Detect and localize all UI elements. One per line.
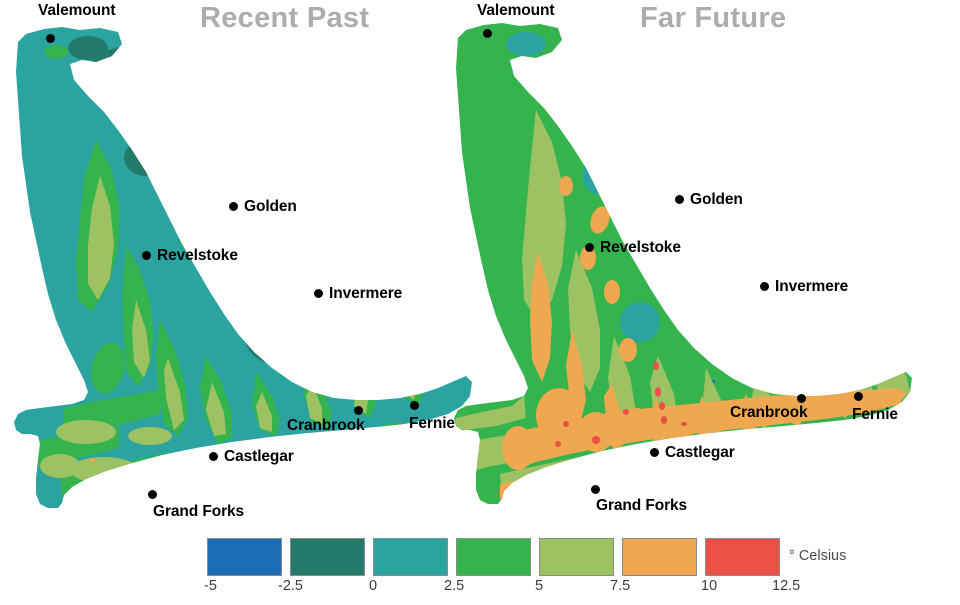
legend-tick-7: 12.5 [772,578,800,594]
legend-swatch-4[interactable] [539,538,614,576]
legend-units-label: ° Celsius [789,548,846,564]
city-dot-castlegar-future [650,448,659,457]
city-dot-cranbrook-future [797,394,806,403]
city-dot-valemount-future [483,29,492,38]
city-dot-fernie-future [854,392,863,401]
legend-swatch-0[interactable] [207,538,282,576]
legend-tick-2: 0 [369,578,377,594]
climate-map-figure: Recent Past [0,0,960,605]
legend-swatch-3[interactable] [456,538,531,576]
legend-tick-0: -5 [204,578,217,594]
city-label-castlegar-future: Castlegar [665,444,735,462]
legend-swatch-2[interactable] [373,538,448,576]
city-label-grand-forks-future: Grand Forks [596,497,687,515]
city-dot-invermere-future [760,282,769,291]
city-label-golden-future: Golden [690,191,743,209]
legend-swatch-1[interactable] [290,538,365,576]
city-label-valemount-future: Valemount [477,2,554,20]
city-label-cranbrook-future: Cranbrook [730,404,807,422]
legend-tick-1: -2.5 [278,578,303,594]
city-dot-grand-forks-future [591,485,600,494]
city-label-invermere-future: Invermere [775,278,848,296]
city-dot-golden-future [675,195,684,204]
legend-swatch-5[interactable] [622,538,697,576]
city-dot-revelstoke-future [585,243,594,252]
legend-swatch-6[interactable] [705,538,780,576]
legend-tick-6: 10 [701,578,717,594]
map-far-future[interactable] [0,0,960,530]
legend-tick-3: 2.5 [444,578,464,594]
city-label-fernie-future: Fernie [852,406,898,424]
city-label-revelstoke-future: Revelstoke [600,239,681,257]
legend-tick-4: 5 [535,578,543,594]
legend-tick-5: 7.5 [610,578,630,594]
